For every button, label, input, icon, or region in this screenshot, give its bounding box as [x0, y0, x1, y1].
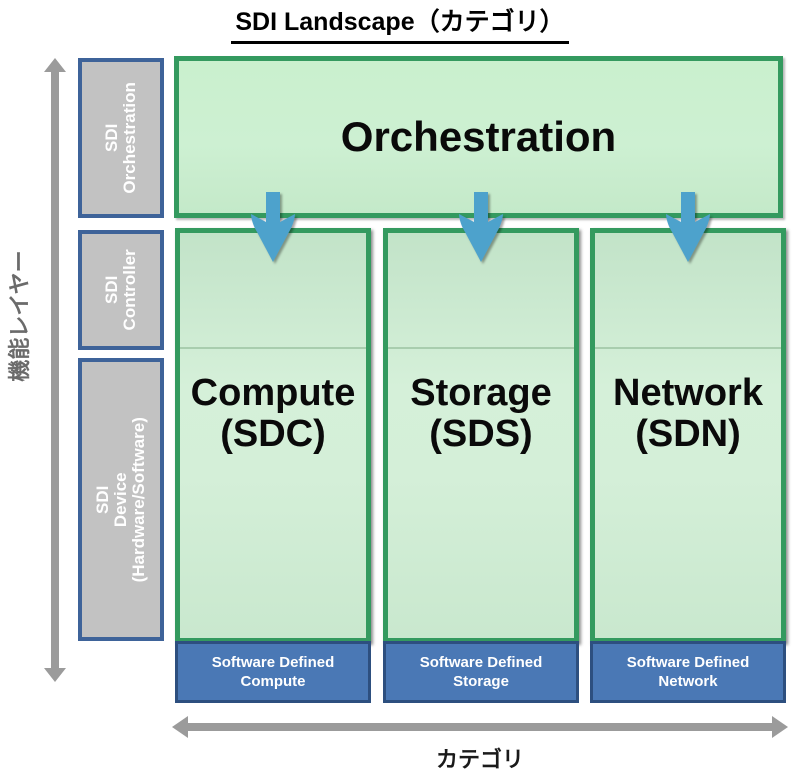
column-compute-title: Compute (SDC): [191, 373, 356, 455]
footer-software-defined-compute[interactable]: Software Defined Compute: [175, 641, 371, 703]
column-network-device-zone: Network (SDN): [595, 351, 781, 638]
page-title-text: SDI Landscape（カテゴリ）: [231, 2, 568, 44]
footer-network-line2: Network: [658, 672, 717, 692]
footer-network-line1: Software Defined: [627, 653, 750, 673]
vertical-axis-arrow: [44, 58, 66, 682]
layer-box-device[interactable]: SDI Device (Hardware/Software): [78, 358, 164, 641]
down-arrow-icon-compute: [245, 192, 301, 264]
layer-label-device: SDI Device (Hardware/Software): [94, 417, 148, 582]
horizontal-axis-arrow: [172, 716, 788, 738]
horizontal-axis-shaft: [186, 723, 774, 731]
column-compute-title-line2: (SDC): [191, 414, 356, 455]
down-arrow-icon-storage: [453, 192, 509, 264]
column-network[interactable]: Network (SDN): [590, 228, 786, 643]
layer-box-controller[interactable]: SDI Controller: [78, 230, 164, 350]
page-title: SDI Landscape（カテゴリ）: [0, 2, 800, 44]
layer-label-controller-line1: SDI: [103, 249, 121, 330]
column-network-title: Network (SDN): [613, 373, 763, 455]
layer-label-controller-line2: Controller: [121, 249, 139, 330]
column-network-title-line1: Network: [613, 373, 763, 414]
layer-label-orchestration-line1: SDI: [103, 82, 121, 193]
double-arrow-horizontal-icon-right: [772, 716, 788, 738]
layer-label-device-line2: Device: [112, 417, 130, 582]
column-storage-title: Storage (SDS): [410, 373, 551, 455]
column-compute-title-line1: Compute: [191, 373, 356, 414]
footer-storage-line2: Storage: [453, 672, 509, 692]
double-arrow-vertical-icon-down: [44, 668, 66, 682]
footer-compute-line2: Compute: [241, 672, 306, 692]
column-compute-device-zone: Compute (SDC): [180, 351, 366, 638]
orchestration-label: Orchestration: [341, 113, 616, 161]
layer-label-device-line3: (Hardware/Software): [130, 417, 148, 582]
column-storage-title-line1: Storage: [410, 373, 551, 414]
footer-storage-line1: Software Defined: [420, 653, 543, 673]
layer-label-device-line1: SDI: [94, 417, 112, 582]
column-storage-title-line2: (SDS): [410, 414, 551, 455]
column-network-title-line2: (SDN): [613, 414, 763, 455]
vertical-axis-label: 機能レイヤー: [2, 246, 34, 386]
footer-software-defined-network[interactable]: Software Defined Network: [590, 641, 786, 703]
layer-box-orchestration[interactable]: SDI Orchestration: [78, 58, 164, 218]
horizontal-axis-label: カテゴリ: [172, 742, 788, 774]
layer-label-orchestration-line2: Orchestration: [121, 82, 139, 193]
column-storage-device-zone: Storage (SDS): [388, 351, 574, 638]
down-arrow-icon-network: [660, 192, 716, 264]
vertical-axis-shaft: [51, 70, 59, 670]
footer-software-defined-storage[interactable]: Software Defined Storage: [383, 641, 579, 703]
layer-label-controller: SDI Controller: [103, 249, 139, 330]
column-storage[interactable]: Storage (SDS): [383, 228, 579, 643]
column-compute[interactable]: Compute (SDC): [175, 228, 371, 643]
footer-compute-line1: Software Defined: [212, 653, 335, 673]
layer-label-orchestration: SDI Orchestration: [103, 82, 139, 193]
